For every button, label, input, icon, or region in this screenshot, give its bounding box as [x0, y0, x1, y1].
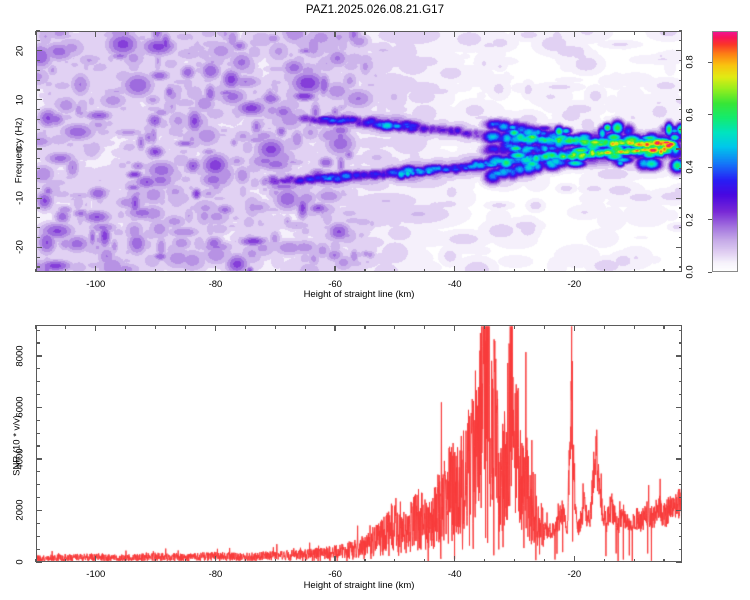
y-tick	[676, 355, 682, 356]
x-tick	[215, 325, 216, 331]
x-minor-tick	[424, 559, 425, 563]
x-minor-tick	[125, 269, 126, 273]
x-minor-tick	[484, 269, 485, 273]
x-minor-tick	[514, 269, 515, 273]
y-minor-tick	[679, 266, 683, 267]
y-minor-tick	[679, 80, 683, 81]
x-minor-tick	[484, 559, 485, 563]
y-tick	[36, 247, 42, 248]
y-minor-tick	[679, 549, 683, 550]
y-tick	[36, 198, 42, 199]
x-tick	[574, 556, 575, 562]
y-tick	[36, 99, 42, 100]
x-tick	[215, 31, 216, 37]
snr-xaxis-title: Height of straight line (km)	[304, 580, 415, 591]
x-minor-tick	[155, 325, 156, 329]
x-minor-tick	[544, 325, 545, 329]
colorbar-tick	[708, 272, 712, 273]
y-minor-tick	[679, 445, 683, 446]
y-minor-tick	[679, 109, 683, 110]
y-tick	[36, 561, 42, 562]
y-minor-tick	[36, 40, 40, 41]
y-minor-tick	[36, 549, 40, 550]
y-minor-tick	[36, 60, 40, 61]
snr-panel	[36, 325, 682, 562]
y-tick-label: 0	[15, 547, 26, 577]
x-tick	[334, 31, 335, 37]
x-minor-tick	[364, 559, 365, 563]
x-tick	[334, 556, 335, 562]
y-tick	[676, 50, 682, 51]
spectrogram-yaxis-title: Frequency (Hz)	[14, 106, 25, 196]
x-minor-tick	[65, 31, 66, 35]
y-minor-tick	[679, 139, 683, 140]
x-minor-tick	[245, 559, 246, 563]
x-tick-label: -40	[448, 569, 462, 580]
y-minor-tick	[36, 257, 40, 258]
x-minor-tick	[245, 325, 246, 329]
x-minor-tick	[424, 31, 425, 35]
snr-plot-area	[36, 325, 682, 562]
y-minor-tick	[679, 237, 683, 238]
x-minor-tick	[663, 31, 664, 35]
y-minor-tick	[36, 266, 40, 267]
y-minor-tick	[36, 484, 40, 485]
x-tick	[454, 556, 455, 562]
y-minor-tick	[36, 433, 40, 434]
y-minor-tick	[679, 129, 683, 130]
x-minor-tick	[484, 325, 485, 329]
y-minor-tick	[36, 368, 40, 369]
x-tick	[95, 31, 96, 37]
y-tick	[36, 458, 42, 459]
x-minor-tick	[514, 559, 515, 563]
x-minor-tick	[245, 269, 246, 273]
x-tick-label: -20	[567, 279, 581, 290]
colorbar-tick-label: 0.2	[685, 208, 696, 232]
x-minor-tick	[155, 559, 156, 563]
x-minor-tick	[394, 269, 395, 273]
y-tick	[676, 148, 682, 149]
y-tick	[676, 198, 682, 199]
x-minor-tick	[364, 269, 365, 273]
y-minor-tick	[679, 484, 683, 485]
x-tick	[574, 31, 575, 37]
x-minor-tick	[275, 559, 276, 563]
x-tick-label: -80	[209, 569, 223, 580]
y-minor-tick	[679, 257, 683, 258]
x-minor-tick	[604, 559, 605, 563]
y-minor-tick	[36, 471, 40, 472]
spectrogram-plot-area	[36, 31, 682, 272]
y-tick-label: 8000	[15, 341, 26, 371]
colorbar-tick-label: 0.8	[685, 50, 696, 74]
x-minor-tick	[424, 269, 425, 273]
y-minor-tick	[36, 523, 40, 524]
y-minor-tick	[36, 89, 40, 90]
y-minor-tick	[36, 119, 40, 120]
x-minor-tick	[245, 31, 246, 35]
x-minor-tick	[663, 325, 664, 329]
x-minor-tick	[125, 559, 126, 563]
y-minor-tick	[679, 523, 683, 524]
y-minor-tick	[679, 497, 683, 498]
y-minor-tick	[36, 178, 40, 179]
y-minor-tick	[36, 80, 40, 81]
y-minor-tick	[36, 497, 40, 498]
x-minor-tick	[394, 31, 395, 35]
x-minor-tick	[185, 31, 186, 35]
x-tick-label: -20	[567, 569, 581, 580]
x-minor-tick	[65, 269, 66, 273]
x-minor-tick	[604, 31, 605, 35]
x-minor-tick	[634, 325, 635, 329]
y-minor-tick	[679, 381, 683, 382]
y-tick	[36, 50, 42, 51]
figure-title: PAZ1.2025.026.08.21.G17	[0, 4, 750, 16]
colorbar-tick	[708, 219, 712, 220]
y-minor-tick	[36, 139, 40, 140]
y-minor-tick	[679, 368, 683, 369]
x-minor-tick	[65, 559, 66, 563]
spectrogram-panel	[36, 31, 682, 272]
y-minor-tick	[679, 89, 683, 90]
x-minor-tick	[514, 31, 515, 35]
y-minor-tick	[679, 40, 683, 41]
y-minor-tick	[679, 394, 683, 395]
colorbar-frame	[712, 31, 738, 272]
x-minor-tick	[394, 559, 395, 563]
spectrogram-xaxis-title: Height of straight line (km)	[304, 289, 415, 300]
x-minor-tick	[634, 31, 635, 35]
y-minor-tick	[36, 342, 40, 343]
x-minor-tick	[394, 325, 395, 329]
x-tick-label: -80	[209, 279, 223, 290]
y-minor-tick	[36, 536, 40, 537]
y-minor-tick	[679, 217, 683, 218]
x-minor-tick	[364, 31, 365, 35]
y-minor-tick	[679, 207, 683, 208]
y-minor-tick	[36, 30, 40, 31]
y-minor-tick	[679, 60, 683, 61]
x-minor-tick	[275, 31, 276, 35]
snr-yaxis-title: SNR (10 * v/v)	[12, 401, 23, 491]
colorbar-tick	[708, 167, 712, 168]
y-tick	[676, 407, 682, 408]
x-minor-tick	[364, 325, 365, 329]
y-minor-tick	[679, 536, 683, 537]
y-minor-tick	[36, 217, 40, 218]
x-minor-tick	[35, 325, 36, 329]
colorbar-tick	[708, 114, 712, 115]
y-minor-tick	[36, 445, 40, 446]
x-minor-tick	[155, 269, 156, 273]
x-tick	[334, 325, 335, 331]
x-minor-tick	[65, 325, 66, 329]
x-minor-tick	[185, 325, 186, 329]
x-minor-tick	[424, 325, 425, 329]
y-minor-tick	[679, 188, 683, 189]
x-tick	[95, 325, 96, 331]
y-minor-tick	[36, 70, 40, 71]
x-minor-tick	[275, 325, 276, 329]
y-tick	[676, 561, 682, 562]
y-minor-tick	[36, 129, 40, 130]
x-tick	[215, 556, 216, 562]
x-minor-tick	[544, 559, 545, 563]
x-minor-tick	[305, 269, 306, 273]
y-minor-tick	[36, 168, 40, 169]
y-minor-tick	[679, 70, 683, 71]
y-tick	[676, 458, 682, 459]
y-tick-label: 20	[15, 36, 26, 66]
y-minor-tick	[679, 119, 683, 120]
x-minor-tick	[305, 31, 306, 35]
x-tick-label: -40	[448, 279, 462, 290]
x-minor-tick	[544, 31, 545, 35]
x-minor-tick	[604, 269, 605, 273]
y-minor-tick	[36, 330, 40, 331]
x-tick	[454, 325, 455, 331]
x-minor-tick	[35, 269, 36, 273]
figure-root: PAZ1.2025.026.08.21.G17 -100-80-60-40-20…	[0, 0, 750, 600]
y-minor-tick	[36, 420, 40, 421]
x-minor-tick	[634, 269, 635, 273]
x-minor-tick	[484, 31, 485, 35]
x-minor-tick	[125, 325, 126, 329]
x-minor-tick	[604, 325, 605, 329]
x-minor-tick	[663, 269, 664, 273]
y-minor-tick	[36, 394, 40, 395]
x-tick	[454, 31, 455, 37]
y-minor-tick	[679, 30, 683, 31]
x-minor-tick	[663, 559, 664, 563]
colorbar-tick-label: 0.4	[685, 155, 696, 179]
x-minor-tick	[514, 325, 515, 329]
y-minor-tick	[36, 237, 40, 238]
x-tick-label: -60	[328, 569, 342, 580]
colorbar-tick	[708, 62, 712, 63]
y-minor-tick	[679, 330, 683, 331]
y-tick	[676, 247, 682, 248]
y-minor-tick	[679, 227, 683, 228]
x-tick	[574, 266, 575, 272]
y-tick	[676, 99, 682, 100]
colorbar	[712, 31, 738, 272]
y-minor-tick	[679, 420, 683, 421]
x-minor-tick	[305, 559, 306, 563]
y-tick	[36, 407, 42, 408]
y-minor-tick	[36, 381, 40, 382]
x-minor-tick	[544, 269, 545, 273]
y-tick-label: -20	[15, 232, 26, 262]
y-minor-tick	[36, 158, 40, 159]
y-tick-label: 2000	[15, 495, 26, 525]
y-tick	[676, 510, 682, 511]
x-tick	[95, 556, 96, 562]
x-minor-tick	[305, 325, 306, 329]
x-tick	[215, 266, 216, 272]
colorbar-tick-label: 0.6	[685, 103, 696, 127]
x-minor-tick	[185, 269, 186, 273]
y-tick	[36, 355, 42, 356]
x-minor-tick	[275, 269, 276, 273]
colorbar-tick-label: 0.0	[685, 260, 696, 284]
x-tick-label: -100	[86, 569, 105, 580]
y-minor-tick	[679, 433, 683, 434]
x-minor-tick	[125, 31, 126, 35]
y-minor-tick	[36, 109, 40, 110]
y-minor-tick	[679, 471, 683, 472]
y-minor-tick	[679, 178, 683, 179]
y-tick	[36, 510, 42, 511]
y-minor-tick	[36, 188, 40, 189]
x-minor-tick	[155, 31, 156, 35]
y-minor-tick	[679, 168, 683, 169]
x-tick-label: -100	[86, 279, 105, 290]
y-minor-tick	[36, 227, 40, 228]
y-tick	[36, 148, 42, 149]
x-tick	[334, 266, 335, 272]
x-tick	[95, 266, 96, 272]
x-tick	[454, 266, 455, 272]
x-minor-tick	[634, 559, 635, 563]
x-minor-tick	[185, 559, 186, 563]
y-minor-tick	[36, 207, 40, 208]
x-tick	[574, 325, 575, 331]
y-minor-tick	[679, 342, 683, 343]
y-minor-tick	[679, 158, 683, 159]
